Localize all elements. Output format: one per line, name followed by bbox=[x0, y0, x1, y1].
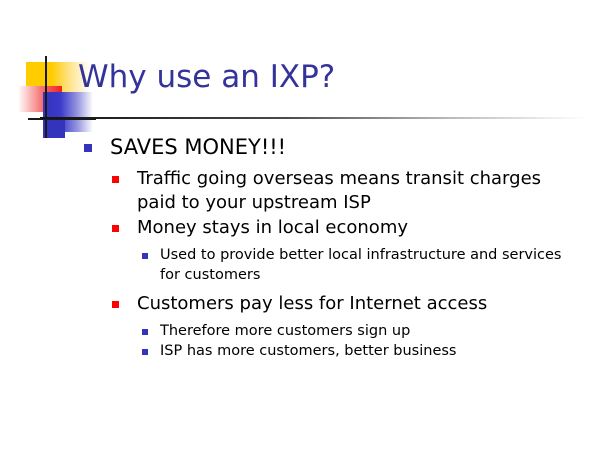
bullet-square-icon bbox=[84, 144, 92, 152]
list-item: Money stays in local economy bbox=[0, 216, 600, 240]
bullet-square-icon bbox=[142, 329, 148, 335]
list-item: ISP has more customers, better business bbox=[0, 341, 600, 361]
list-item: Therefore more customers sign up bbox=[0, 321, 600, 341]
list-item-label: Therefore more customers sign up bbox=[160, 321, 586, 341]
list-item: Customers pay less for Internet access bbox=[0, 292, 600, 316]
title-underline-rule bbox=[40, 117, 585, 119]
bullet-square-icon bbox=[112, 176, 119, 183]
bullet-square-icon bbox=[112, 301, 119, 308]
bullet-square-icon bbox=[142, 349, 148, 355]
list-item-label: Traffic going overseas means transit cha… bbox=[137, 167, 570, 215]
list-item-label: Money stays in local economy bbox=[137, 216, 570, 240]
presentation-slide: Why use an IXP? SAVES MONEY!!! Traffic g… bbox=[0, 0, 600, 450]
list-item-label: SAVES MONEY!!! bbox=[110, 134, 600, 160]
list-item-label: Customers pay less for Internet access bbox=[137, 292, 570, 316]
bullet-square-icon bbox=[112, 225, 119, 232]
list-item: Traffic going overseas means transit cha… bbox=[0, 167, 600, 215]
list-item: Used to provide better local infrastruct… bbox=[0, 245, 600, 285]
slide-body: SAVES MONEY!!! Traffic going overseas me… bbox=[0, 134, 600, 361]
bullet-square-icon bbox=[142, 253, 148, 259]
decoration-vertical-line bbox=[45, 56, 47, 138]
slide-title: Why use an IXP? bbox=[78, 60, 335, 94]
list-item-label: Used to provide better local infrastruct… bbox=[160, 245, 586, 285]
list-item: SAVES MONEY!!! bbox=[0, 134, 600, 160]
list-item-label: ISP has more customers, better business bbox=[160, 341, 586, 361]
